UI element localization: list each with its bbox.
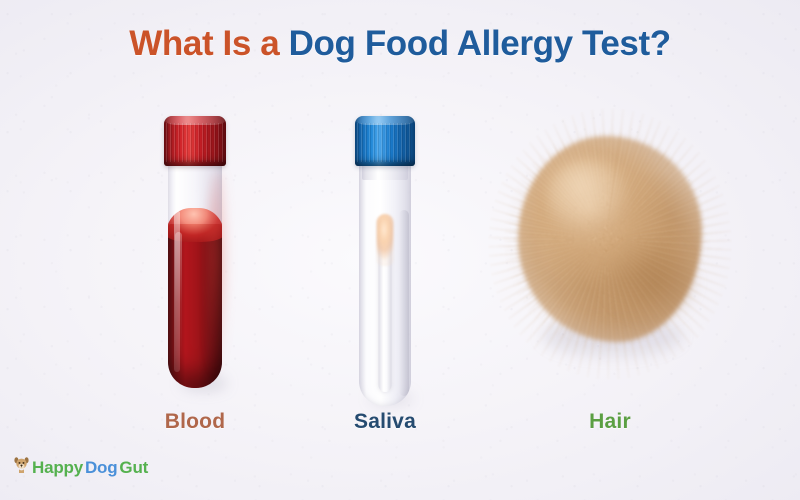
dog-face-icon (13, 456, 30, 479)
sample-label-blood: Blood (115, 410, 275, 434)
blood-collection-tube-icon (168, 116, 222, 388)
cap-bottom-skirt (164, 160, 226, 166)
logo-text-happy: Happy (32, 458, 83, 478)
blood-tube-glass-highlight (174, 210, 180, 372)
page-title-part-orange: What Is a (129, 24, 288, 63)
sample-item-hair[interactable] (490, 100, 730, 400)
sample-label-hair: Hair (490, 410, 730, 434)
sample-label-saliva: Saliva (305, 410, 465, 434)
sample-item-blood[interactable] (115, 100, 275, 400)
hair-shadow-area (602, 238, 694, 324)
dog-hair-tuft-icon (502, 122, 718, 366)
sample-item-saliva[interactable] (305, 100, 465, 400)
saliva-tube-cap (355, 116, 415, 166)
cap-bottom-skirt (355, 160, 415, 166)
saliva-swab-tube-icon (359, 116, 411, 406)
logo-text-dog: Dog (85, 458, 117, 478)
saliva-tube-inner-shadow (399, 210, 409, 396)
saliva-swab-tip (377, 214, 394, 266)
hair-highlight (546, 158, 632, 230)
cap-top-highlight (165, 116, 225, 125)
page-title: What Is a Dog Food Allergy Test? (0, 24, 800, 64)
cap-top-highlight (356, 116, 414, 125)
cap-ribbing (166, 123, 224, 162)
sample-row (0, 100, 800, 400)
site-logo[interactable]: HappyDogGut (13, 456, 148, 479)
page-title-part-blue: Dog Food Allergy Test? (289, 24, 671, 63)
blood-tube-cap (164, 116, 226, 166)
infographic-canvas: What Is a Dog Food Allergy Test? (0, 0, 800, 500)
blood-tube-red-glow (208, 172, 230, 382)
hair-strand-texture (502, 122, 718, 366)
logo-text-gut: Gut (119, 458, 148, 478)
cap-ribbing (357, 123, 413, 162)
saliva-tube-glass-body (359, 162, 411, 406)
